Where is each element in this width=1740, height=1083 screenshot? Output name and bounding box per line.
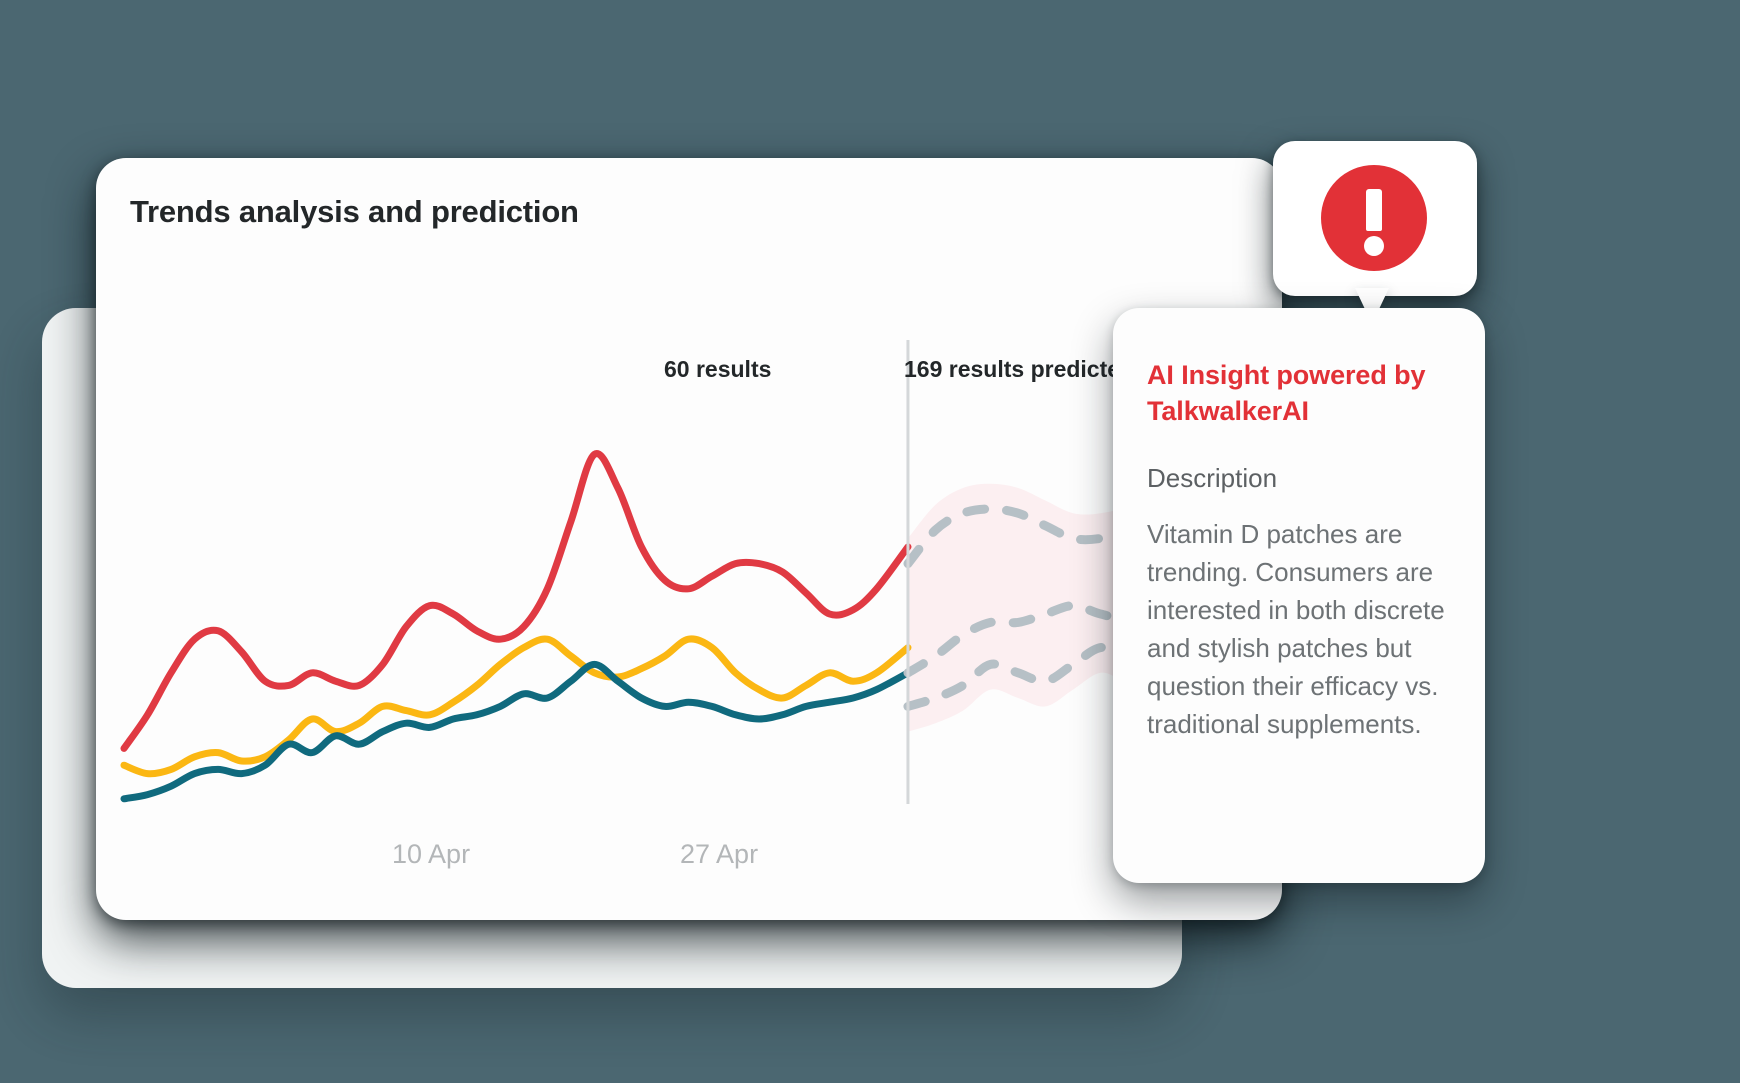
exclamation-icon-bar bbox=[1366, 189, 1382, 231]
ai-insight-title: AI Insight powered by TalkwalkerAI bbox=[1147, 358, 1451, 429]
trends-chart-card: Trends analysis and prediction 60 result… bbox=[96, 158, 1282, 920]
ai-insight-card[interactable]: AI Insight powered by TalkwalkerAI Descr… bbox=[1113, 308, 1485, 883]
ai-insight-description: Vitamin D patches are trending. Consumer… bbox=[1147, 516, 1451, 744]
ai-insight-subtitle: Description bbox=[1147, 463, 1451, 494]
x-axis-tick-2: 27 Apr bbox=[680, 839, 758, 870]
predicted-results-label: 169 results predicted bbox=[904, 356, 1134, 383]
chart-plot-area[interactable]: 60 results 169 results predicted 10 Apr … bbox=[96, 244, 1282, 920]
actual-results-label: 60 results bbox=[664, 356, 771, 383]
page-title: Trends analysis and prediction bbox=[130, 194, 579, 230]
x-axis-tick-1: 10 Apr bbox=[392, 839, 470, 870]
trends-line-chart bbox=[96, 244, 1282, 920]
series-series-red bbox=[124, 454, 908, 749]
screenshot-root: Trends analysis and prediction 60 result… bbox=[0, 0, 1740, 1083]
series-series-teal bbox=[124, 664, 908, 798]
series-series-yellow bbox=[124, 639, 908, 774]
exclamation-icon-dot bbox=[1364, 236, 1384, 256]
